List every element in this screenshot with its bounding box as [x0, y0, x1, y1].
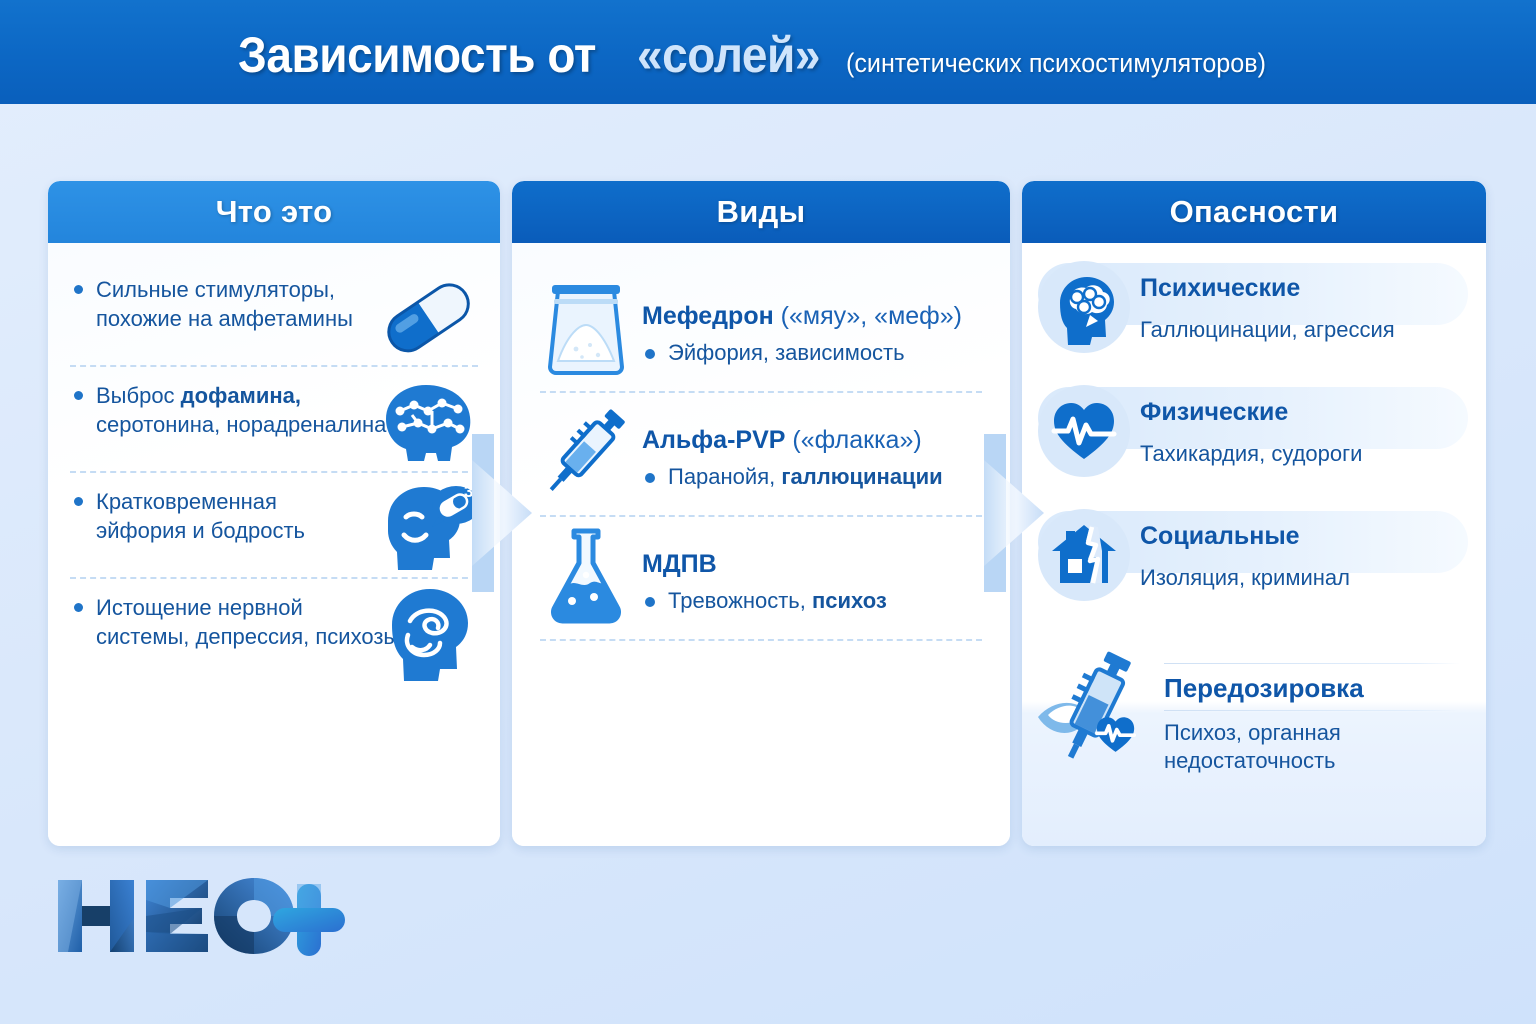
overdose-text: Передозировка Психоз, органная недостато… [1164, 645, 1460, 775]
danger-title: Психические [1140, 275, 1395, 303]
type-effect: Эйфория, зависимость [642, 340, 962, 366]
list-item-text: Альфа-PVP («флакка») Паранойя, галлюцина… [642, 399, 943, 490]
types-list: Мефедрон («мяу», «меф») Эйфория, зависим… [512, 243, 1010, 641]
card-header-label: Опасности [1170, 194, 1339, 230]
list-separator [540, 639, 982, 641]
title-quoted-text: «солей» [637, 26, 820, 84]
list-item-text: Физические Тахикардия, судороги [1140, 385, 1362, 467]
svg-text:3: 3 [464, 482, 473, 501]
type-title-alias: («мяу», «меф») [781, 302, 962, 330]
danger-description: Изоляция, криминал [1140, 565, 1350, 591]
overdose-desc-line2: недостаточность [1164, 748, 1336, 773]
bullet-dot-icon [74, 391, 83, 400]
list-item-line2: эйфория и бодрость [96, 518, 305, 543]
list-item-line1-lead: Выброс [96, 383, 181, 408]
type-effect-plain: Паранойя, [668, 464, 781, 489]
list-item-line1: Истощение нервной [96, 595, 303, 620]
head-tangled-brain-icon [368, 583, 488, 681]
card-header-dangers: Опасности [1022, 181, 1486, 243]
overdose-block[interactable]: Передозировка Психоз, органная недостато… [1022, 635, 1486, 791]
type-title-bold: Альфа-PVP [642, 426, 785, 454]
danger-title: Физические [1140, 399, 1362, 427]
type-title: МДПВ [642, 549, 887, 579]
heart-pulse-icon [1038, 385, 1130, 477]
card-dangers: Опасности [1022, 181, 1486, 846]
bullet-dot-icon [74, 603, 83, 612]
list-item-text: Мефедрон («мяу», «меф») Эйфория, зависим… [642, 275, 962, 366]
card-what-is-it: Что это Сильные стимуляторы, похожие на … [48, 181, 500, 846]
title-subtitle-text: (синтетических психостимуляторов) [846, 48, 1266, 79]
overdose-title: Передозировка [1164, 673, 1460, 704]
list-item[interactable]: Истощение нервной системы, депрессия, пс… [48, 579, 500, 683]
type-title: Альфа-PVP («флакка») [642, 425, 943, 455]
list-item-line2: серотонина, норадреналина [96, 412, 386, 437]
type-effect-plain: Тревожность, [668, 588, 812, 613]
list-item[interactable]: Сильные стимуляторы, похожие на амфетами… [48, 261, 500, 365]
list-item[interactable]: МДПВ Тревожность, психоз [512, 517, 1010, 639]
danger-title: Социальные [1140, 523, 1350, 551]
list-item-text: Психические Галлюцинации, агрессия [1140, 261, 1395, 343]
infographic-page: Зависимость от «солей» (синтетических пс… [0, 0, 1536, 1024]
list-item-text: МДПВ Тревожность, психоз [642, 523, 887, 614]
syringe-icon [538, 399, 634, 503]
bullet-dot-icon [74, 285, 83, 294]
bullet-dot-icon [645, 473, 655, 483]
overdose-desc-line1: Психоз, органная [1164, 720, 1341, 745]
list-item-line2: похожие на амфетамины [96, 306, 353, 331]
title-main-text: Зависимость от [238, 26, 596, 84]
card-header-label: Что это [216, 194, 333, 230]
page-banner: Зависимость от «солей» (синтетических пс… [0, 0, 1536, 104]
head-euphoria-icon: 3 [368, 477, 488, 575]
card-header-what-is-it: Что это [48, 181, 500, 243]
list-item[interactable]: Социальные Изоляция, криминал [1022, 505, 1486, 629]
list-item[interactable]: Альфа-PVP («флакка») Паранойя, галлюцина… [512, 393, 1010, 515]
list-item-line1-bold: дофамина, [181, 383, 301, 408]
list-item[interactable]: Мефедрон («мяу», «меф») Эйфория, зависим… [512, 269, 1010, 391]
danger-description: Тахикардия, судороги [1140, 441, 1362, 467]
logo-letter-e [146, 880, 208, 952]
type-effect-bold: психоз [812, 588, 887, 613]
flask-icon [538, 523, 634, 627]
logo-letter-n [58, 880, 134, 952]
type-title-bold: Мефедрон [642, 302, 774, 330]
overdose-separator-bottom [1164, 710, 1460, 711]
bullet-dot-icon [74, 497, 83, 506]
type-title-bold: МДПВ [642, 550, 717, 578]
powder-bag-icon [538, 275, 634, 379]
list-item-line1: Сильные стимуляторы, [96, 277, 335, 302]
type-effect-bold: галлюцинации [781, 464, 942, 489]
bullet-dot-icon [645, 597, 655, 607]
card-body-types: Мефедрон («мяу», «меф») Эйфория, зависим… [512, 243, 1010, 846]
card-types: Виды [512, 181, 1010, 846]
danger-description: Галлюцинации, агрессия [1140, 317, 1395, 343]
head-brain-icon [1038, 261, 1130, 353]
broken-house-icon [1038, 509, 1130, 601]
type-effect: Тревожность, психоз [642, 588, 887, 614]
bullet-dot-icon [645, 349, 655, 359]
overdose-separator-top [1164, 663, 1460, 664]
page-title: Зависимость от «солей» (синтетических пс… [238, 26, 1298, 84]
logo-neo-plus-icon [48, 870, 348, 962]
list-item[interactable]: Выброс дофамина, серотонина, норадренали… [48, 367, 500, 471]
pill-capsule-icon [368, 265, 488, 363]
type-effect: Паранойя, галлюцинации [642, 464, 943, 490]
card-body-what-is-it: Сильные стимуляторы, похожие на амфетами… [48, 243, 500, 846]
card-body-dangers: Психические Галлюцинации, агрессия Фи [1022, 243, 1486, 846]
what-is-it-list: Сильные стимуляторы, похожие на амфетами… [48, 243, 500, 683]
list-item[interactable]: Психические Галлюцинации, агрессия [1022, 257, 1486, 381]
brand-logo[interactable] [48, 870, 348, 962]
syringe-powder-icon [1034, 645, 1164, 765]
type-title-alias: («флакка») [792, 426, 921, 454]
card-header-types: Виды [512, 181, 1010, 243]
card-header-label: Виды [717, 194, 806, 230]
type-title: Мефедрон («мяу», «меф») [642, 301, 962, 331]
list-item-line2: системы, депрессия, психозы [96, 624, 399, 649]
dangers-list: Психические Галлюцинации, агрессия Фи [1022, 243, 1486, 791]
overdose-description: Психоз, органная недостаточность [1164, 719, 1460, 775]
list-item-text: Социальные Изоляция, криминал [1140, 509, 1350, 591]
type-effect-plain: Эйфория, зависимость [668, 340, 905, 365]
brain-network-icon [368, 371, 488, 469]
list-item[interactable]: Кратковременная эйфория и бодрость [48, 473, 500, 577]
list-item[interactable]: Физические Тахикардия, судороги [1022, 381, 1486, 505]
list-item-line1: Кратковременная [96, 489, 277, 514]
